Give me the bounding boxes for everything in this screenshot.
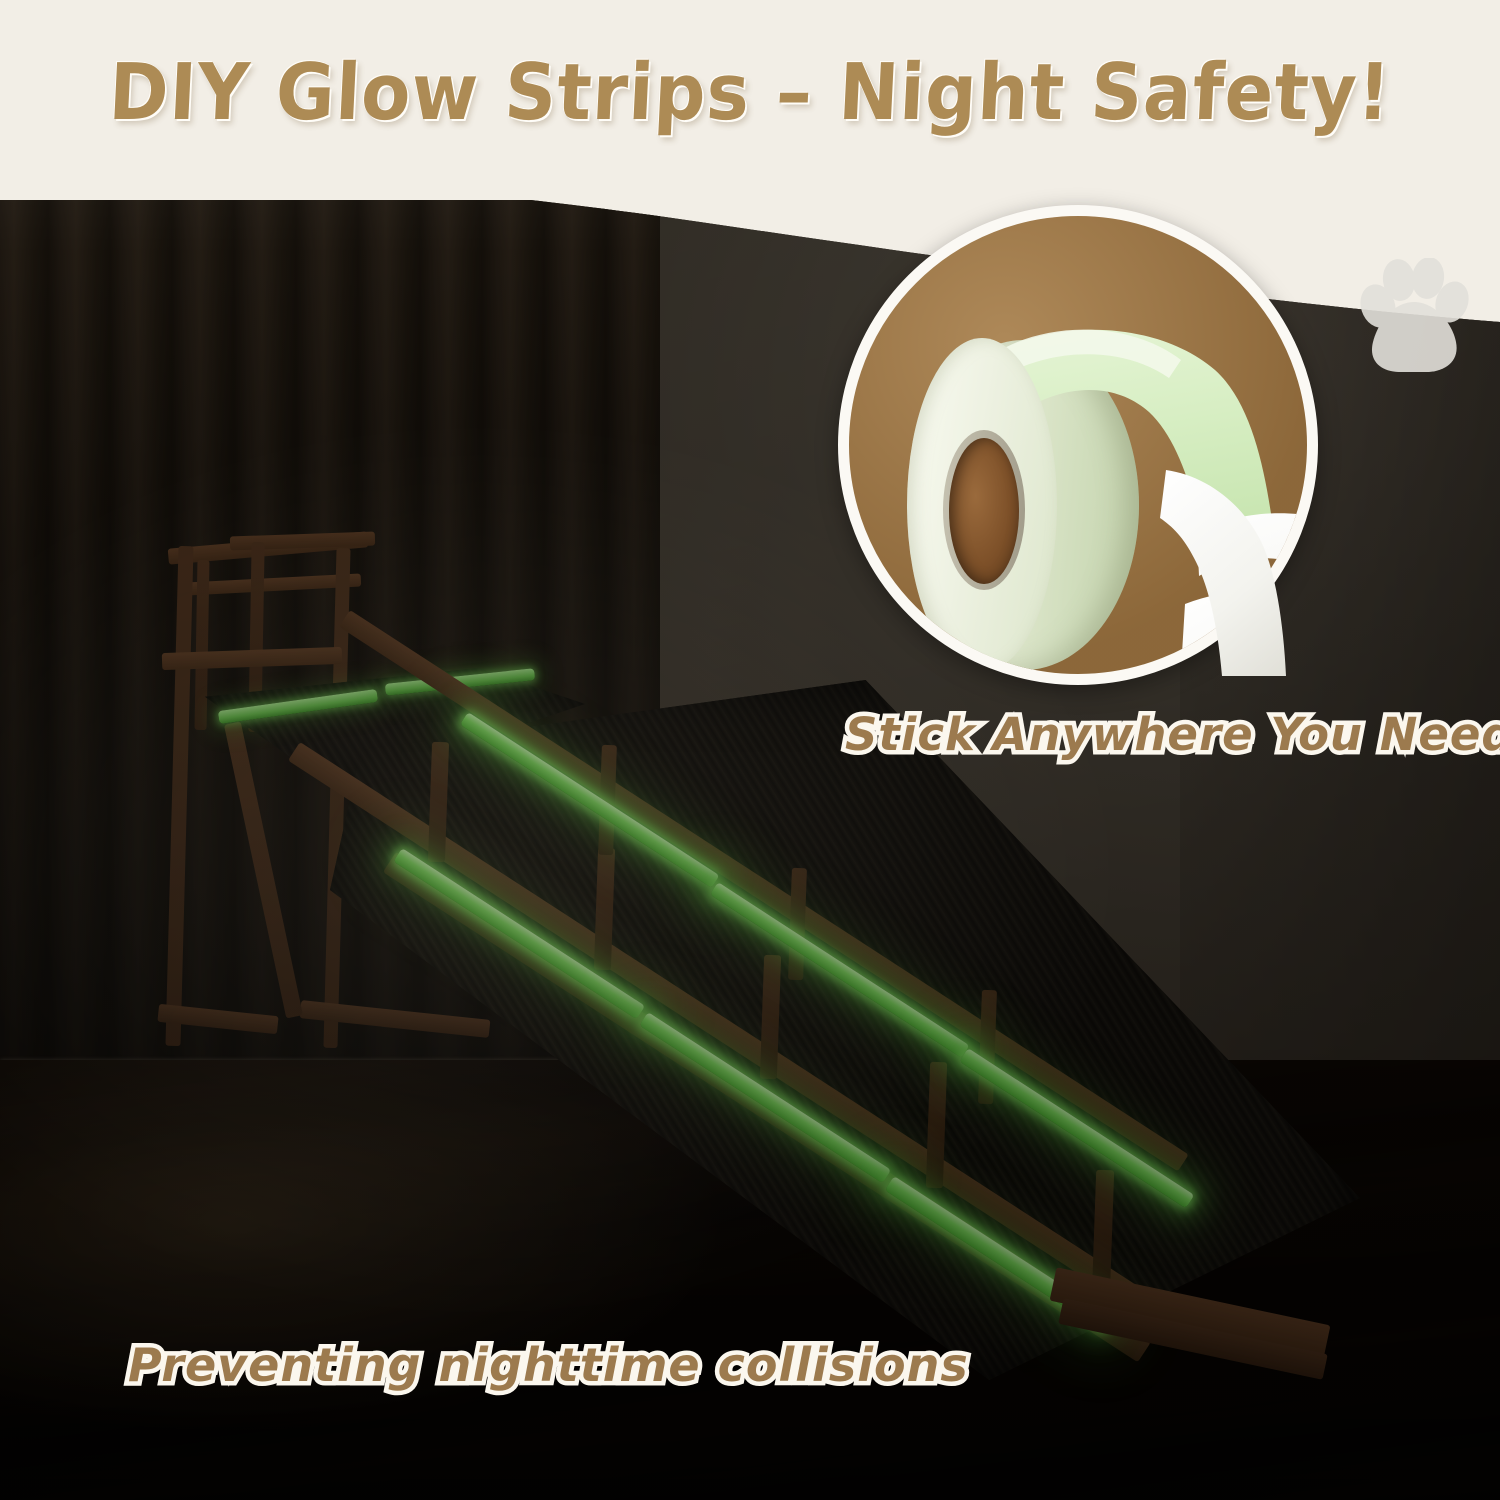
bottom-caption: Preventing nighttime collisions — [128, 1338, 969, 1392]
platform-diagonal-brace — [224, 722, 303, 1019]
tape-cardboard-core — [949, 438, 1019, 584]
page-title: DIY Glow Strips – Night Safety! — [58, 48, 1442, 138]
product-banner: DIY Glow Strips – Night Safety! Stick An… — [0, 0, 1500, 1500]
platform-post-far — [195, 560, 210, 730]
tape-liner-overflow-segment — [1160, 470, 1290, 680]
platform-post-left — [165, 546, 193, 1046]
inset-caption: Stick Anywhere You Need! — [845, 708, 1500, 761]
paw-print-icon — [1348, 258, 1476, 378]
tape-liner-overflow — [1160, 470, 1290, 680]
